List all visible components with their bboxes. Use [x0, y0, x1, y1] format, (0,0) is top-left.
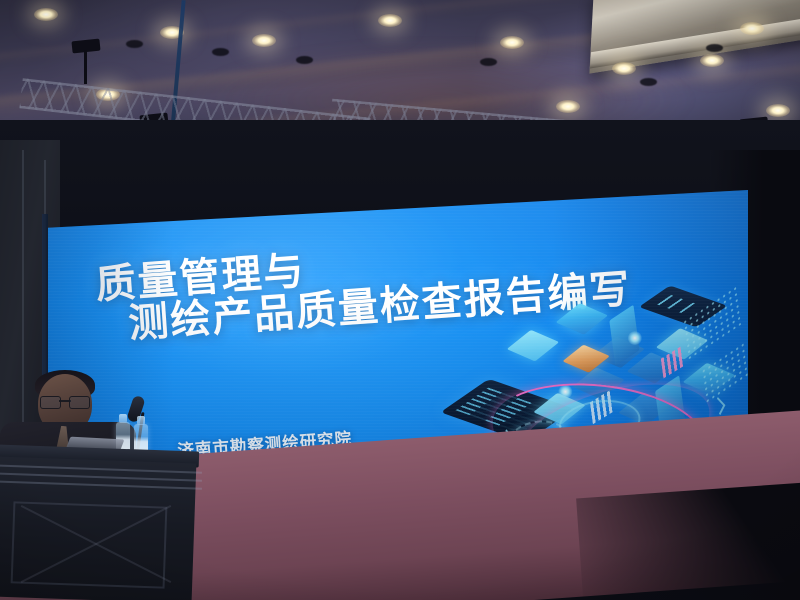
ceiling-vent [126, 40, 143, 48]
graphic-cube [507, 330, 560, 362]
ceiling-downlight [556, 100, 580, 113]
podium-and-speaker [0, 372, 204, 600]
ceiling-downlight [612, 62, 636, 75]
glasses-lens [69, 396, 90, 409]
ceiling-downlight [766, 104, 790, 117]
ceiling-vent [480, 58, 497, 66]
ceiling-downlight [34, 8, 58, 21]
stage-right-shadow [576, 482, 800, 600]
ceiling-vent [296, 56, 313, 64]
podium-panel-diagonal [12, 504, 162, 582]
ceiling-vent [212, 48, 229, 56]
graphic-cube [556, 303, 609, 335]
ceiling-downlight [700, 54, 724, 67]
graphic-dot-grid [701, 342, 748, 406]
graphic-chevron-icon [713, 397, 726, 415]
ceiling-vent [706, 44, 723, 52]
ceiling-downlight [500, 36, 524, 49]
ceiling-vent [640, 78, 657, 86]
glasses-lens [40, 396, 61, 409]
conference-photo-scene: 质量管理与 测绘产品质量检查报告编写 济南市勘察测绘研究院 杜洪涛 2023.4 [0, 0, 800, 600]
speaker-glasses [40, 396, 90, 407]
spotlight-pole [84, 50, 87, 84]
ceiling-downlight [252, 34, 276, 47]
ceiling-downlight [740, 22, 764, 35]
ceiling-downlight [378, 14, 402, 27]
